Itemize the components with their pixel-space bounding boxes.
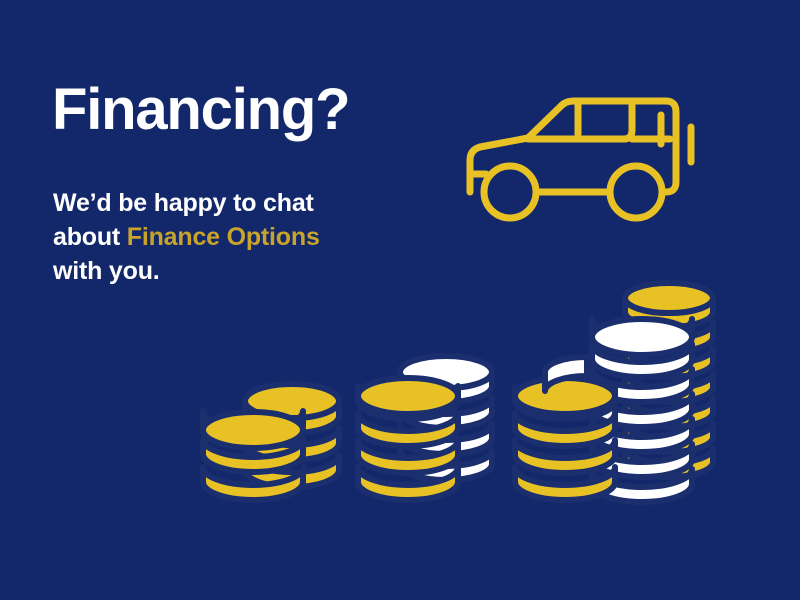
coin-stack-large-front bbox=[515, 378, 615, 500]
coin-stack-small-front bbox=[203, 411, 303, 500]
financing-promo-slide: Financing? We’d be happy to chat about F… bbox=[0, 0, 800, 600]
coin-stack-medium bbox=[358, 356, 492, 500]
coin-stack-small bbox=[203, 384, 339, 500]
coin-stack-large bbox=[515, 283, 713, 502]
coin-stacks-illustration bbox=[0, 0, 800, 600]
coin-stack-medium-front bbox=[358, 378, 458, 500]
